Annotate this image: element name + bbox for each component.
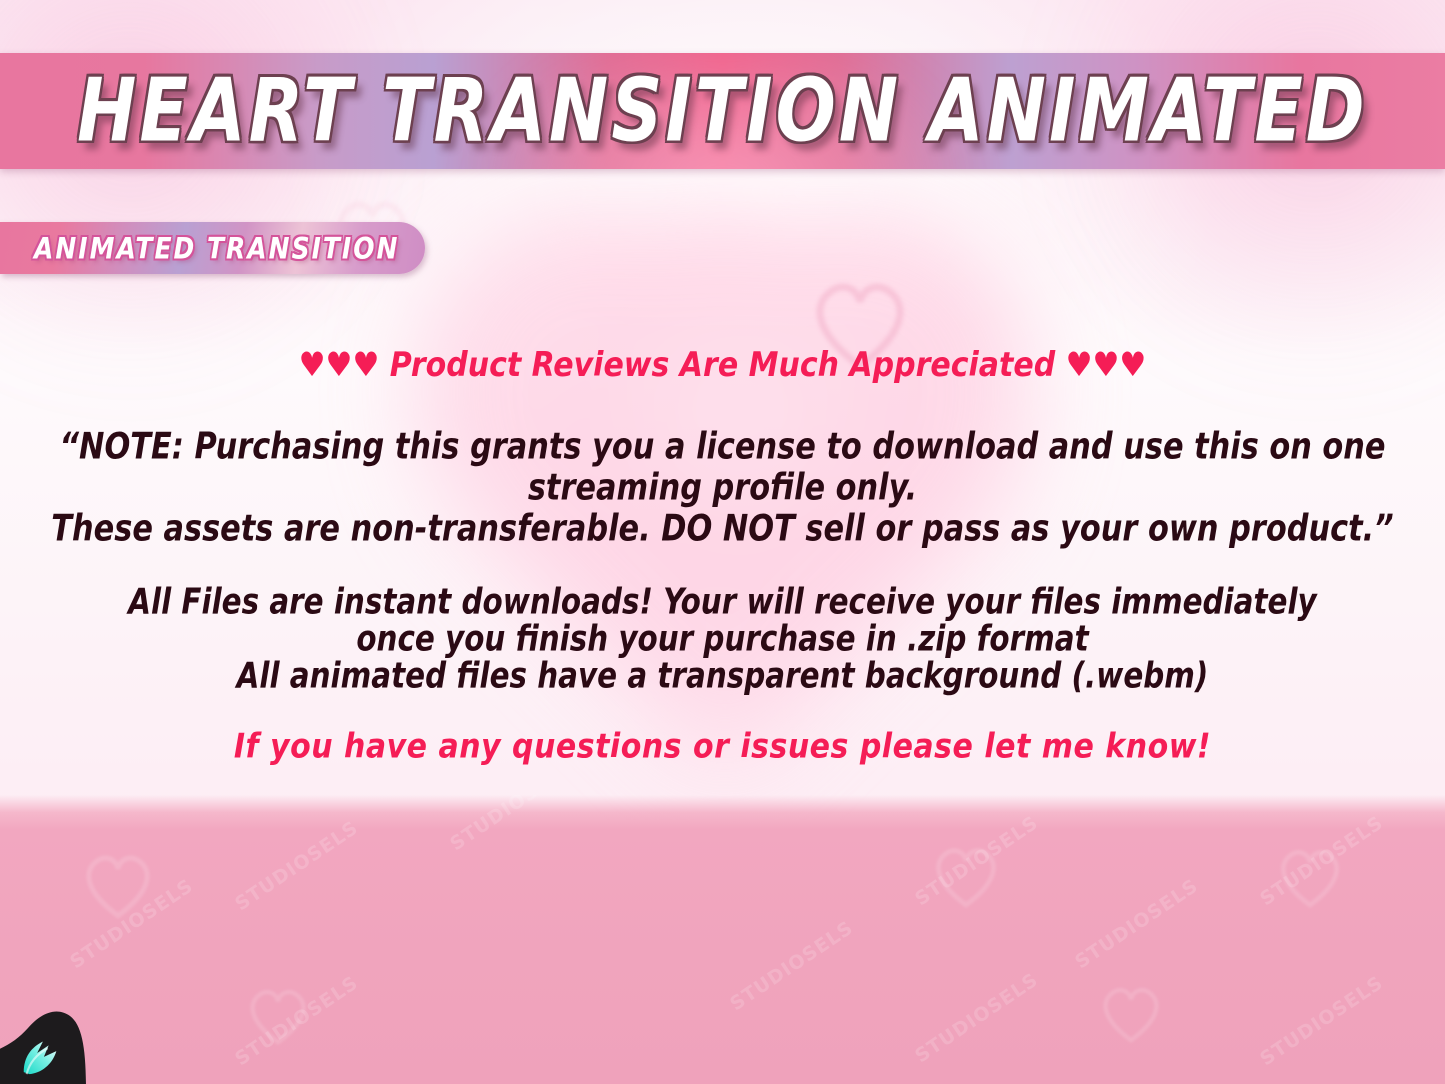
delivery-info: All Files are instant downloads! Your wi… xyxy=(0,584,1445,695)
description-block: ♥♥♥ Product Reviews Are Much Appreciated… xyxy=(0,348,1445,764)
footer-brand-watermark: STUDIOSELS xyxy=(726,917,857,1016)
tab-animated-transition[interactable]: ANIMATED TRANSITION xyxy=(0,222,425,274)
page-title: HEART TRANSITION ANIMATED xyxy=(77,60,1368,161)
license-note: “NOTE: Purchasing this grants you a lice… xyxy=(0,427,1445,550)
footer-brand-watermark: STUDIOSELS xyxy=(446,795,577,855)
footer-band: STUDIOSELSSTUDIOSELSSTUDIOSELSSTUDIOSELS… xyxy=(0,795,1445,1084)
footer-brand-watermark: STUDIOSELS xyxy=(911,969,1042,1068)
studio-leaf-logo xyxy=(0,998,110,1084)
footer-brand-watermark: STUDIOSELS xyxy=(231,817,362,916)
tab-label: ANIMATED TRANSITION xyxy=(34,231,399,265)
reviews-line: ♥♥♥ Product Reviews Are Much Appreciated… xyxy=(0,346,1445,385)
footer-brand-watermark: STUDIOSELS xyxy=(1256,972,1387,1071)
footer-brand-watermark: STUDIOSELS xyxy=(1071,875,1202,974)
footer-heart-watermark xyxy=(1098,983,1164,1044)
delivery-info-line: All animated files have a transparent ba… xyxy=(14,655,1430,699)
title-banner: HEART TRANSITION ANIMATED xyxy=(0,53,1445,169)
product-listing-canvas: HEART TRANSITION ANIMATED ANIMATED TRANS… xyxy=(0,0,1445,1084)
contact-line: If you have any questions or issues plea… xyxy=(0,727,1445,767)
license-note-line: These assets are non-transferable. DO NO… xyxy=(14,505,1430,553)
